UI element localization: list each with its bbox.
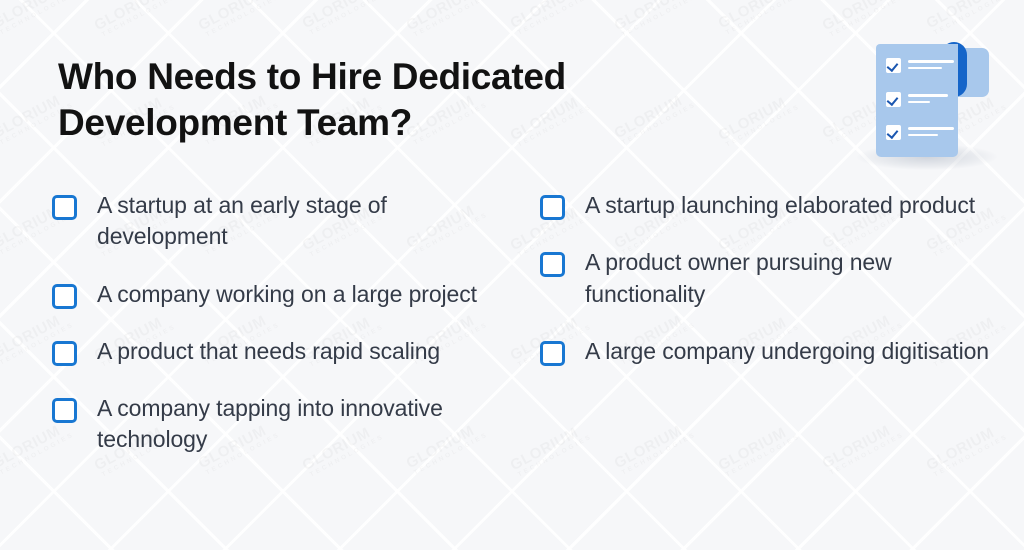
list-item[interactable]: A large company undergoing digitisation (540, 336, 990, 367)
list-item-label: A startup at an early stage of developme… (97, 190, 502, 253)
page-title: Who Needs to Hire Dedicated Development … (58, 54, 678, 145)
checkbox-icon[interactable] (52, 284, 77, 309)
clipboard-row (886, 92, 948, 107)
list-item[interactable]: A product that needs rapid scaling (52, 336, 502, 367)
clipboard-text-line (908, 127, 954, 130)
clipboard-checkbox-icon (886, 125, 901, 140)
checkbox-icon[interactable] (540, 341, 565, 366)
clipboard-text-lines (908, 92, 948, 103)
clipboard-text-lines (908, 58, 954, 69)
check-icon (887, 59, 899, 71)
clipboard-sheet (876, 44, 958, 157)
list-item-label: A large company undergoing digitisation (585, 336, 989, 367)
list-item-label: A company tapping into innovative techno… (97, 393, 502, 456)
list-item[interactable]: A startup at an early stage of developme… (52, 190, 502, 253)
clipboard-text-line (908, 67, 942, 70)
list-item-label: A product that needs rapid scaling (97, 336, 440, 367)
infographic-stage: Who Needs to Hire Dedicated Development … (0, 0, 1024, 550)
clipboard-text-line (908, 94, 948, 97)
list-item[interactable]: A startup launching elaborated product (540, 190, 990, 221)
clipboard-row (886, 58, 954, 73)
clipboard-text-lines (908, 125, 954, 136)
list-item[interactable]: A company working on a large project (52, 279, 502, 310)
clipboard-text-line (908, 134, 938, 137)
list-item[interactable]: A product owner pursuing new functionali… (540, 247, 990, 310)
list-item-label: A company working on a large project (97, 279, 477, 310)
checkbox-icon[interactable] (52, 195, 77, 220)
list-item[interactable]: A company tapping into innovative techno… (52, 393, 502, 456)
checklist-column-left: A startup at an early stage of developme… (52, 190, 502, 482)
checklist-clipboard-illustration (845, 26, 1010, 171)
check-icon (887, 126, 899, 138)
clipboard-checkbox-icon (886, 92, 901, 107)
checkbox-icon[interactable] (52, 398, 77, 423)
check-icon (887, 93, 899, 105)
list-item-label: A product owner pursuing new functionali… (585, 247, 990, 310)
checkbox-icon[interactable] (52, 341, 77, 366)
checkbox-icon[interactable] (540, 252, 565, 277)
list-item-label: A startup launching elaborated product (585, 190, 975, 221)
checkbox-icon[interactable] (540, 195, 565, 220)
clipboard-text-line (908, 101, 930, 104)
clipboard-checkbox-icon (886, 58, 901, 73)
clipboard-row (886, 125, 954, 140)
checklist-column-right: A startup launching elaborated productA … (540, 190, 990, 393)
clipboard-text-line (908, 60, 954, 63)
